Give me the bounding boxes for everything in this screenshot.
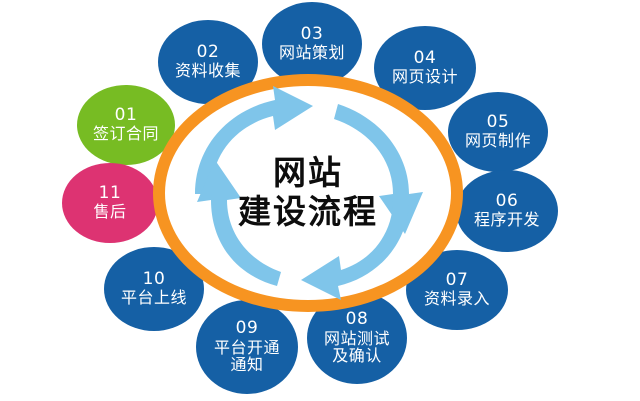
process-node-number: 06: [496, 193, 519, 211]
center-title-line2: 建设流程: [238, 193, 378, 232]
infographic-canvas: 01签订合同02资料收集03网站策划04网页设计05网页制作06程序开发07资料…: [0, 0, 640, 401]
process-node-number: 11: [99, 185, 122, 203]
process-node-label: 程序开发: [474, 211, 540, 229]
center-title-line1: 网站: [273, 154, 343, 193]
process-node-05[interactable]: 05网页制作: [448, 92, 548, 172]
process-node-number: 04: [414, 50, 437, 68]
process-node-label: 网页制作: [465, 132, 531, 150]
center-title: 网站 建设流程: [153, 74, 463, 312]
process-node-number: 08: [346, 311, 369, 329]
process-node-11[interactable]: 11售后: [62, 163, 158, 243]
process-node-label: 平台开通 通知: [214, 339, 280, 375]
process-node-06[interactable]: 06程序开发: [456, 170, 558, 252]
process-node-number: 03: [301, 26, 324, 44]
process-node-label: 签订合同: [93, 125, 159, 143]
process-node-09[interactable]: 09平台开通 通知: [196, 300, 298, 394]
process-node-number: 05: [487, 114, 510, 132]
process-node-label: 售后: [93, 203, 126, 221]
process-node-label: 网站测试 及确认: [324, 330, 390, 366]
process-node-label: 网站策划: [279, 44, 345, 62]
process-node-number: 01: [115, 107, 138, 125]
process-node-number: 02: [197, 44, 220, 62]
process-node-number: 09: [236, 320, 259, 338]
